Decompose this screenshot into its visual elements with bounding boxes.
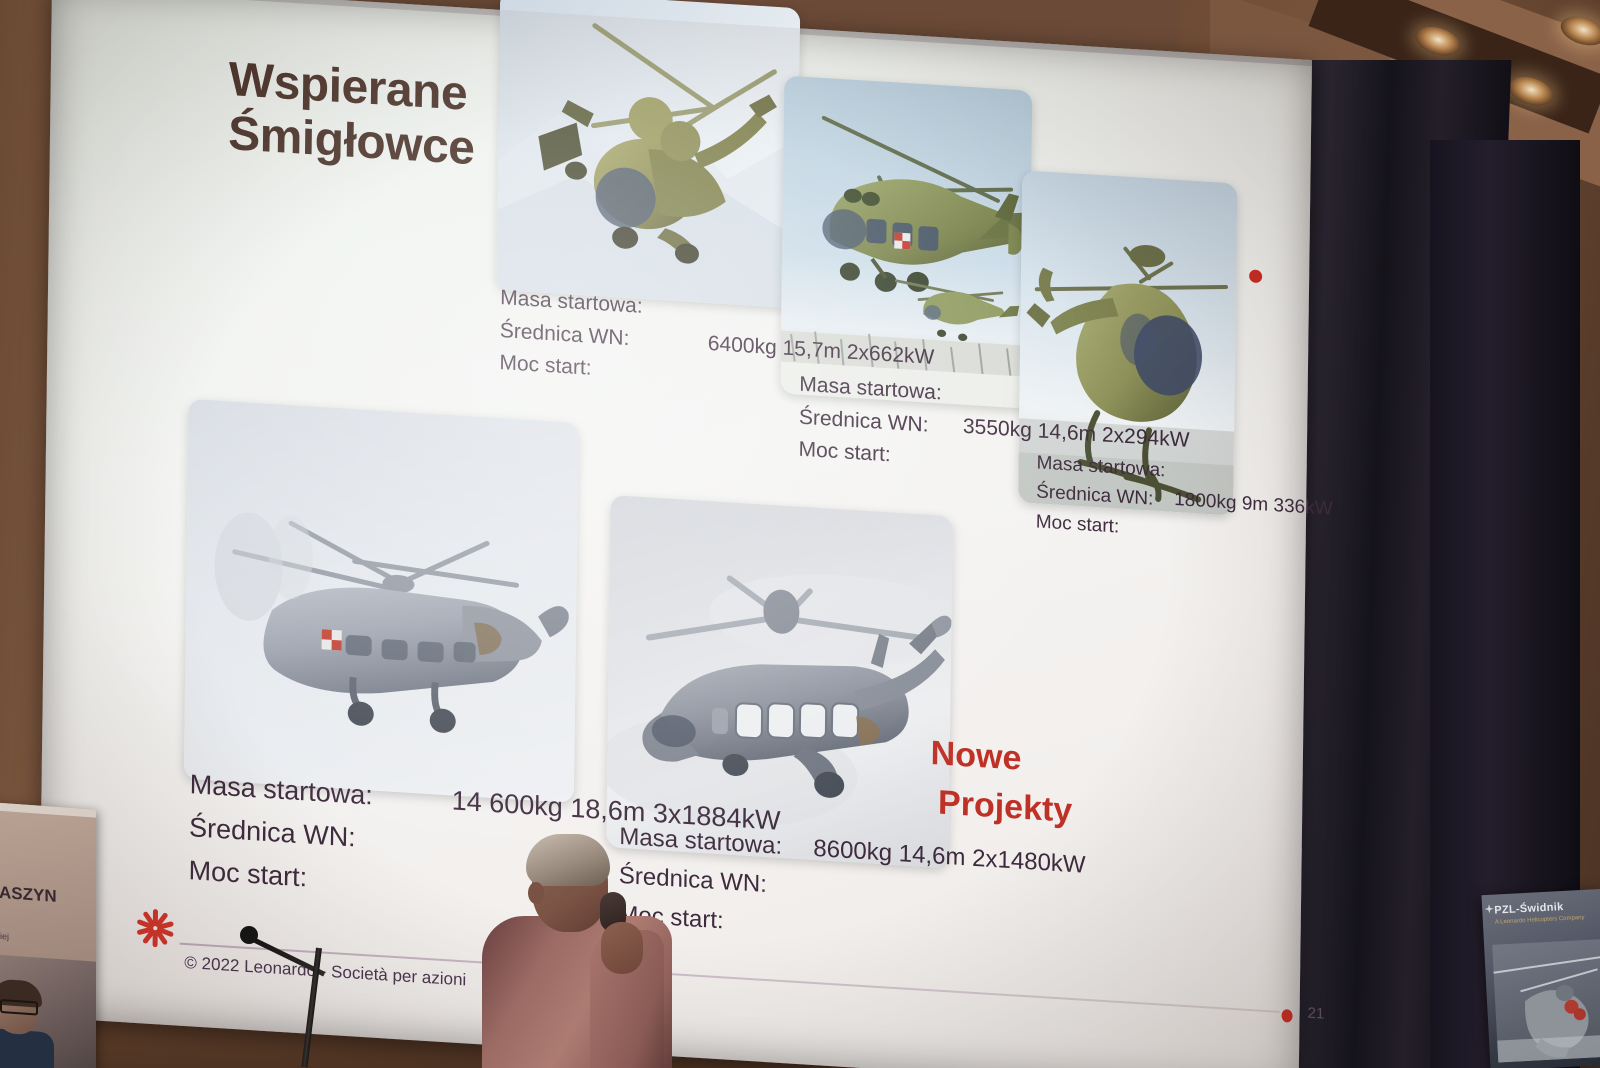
rollup-banner-left: …ASZYN A …skiej [0,802,96,1068]
spec-labels-mi2: Masa startowa: Średnica WN: Moc start: [798,369,942,475]
spec-value-mass: 1800kg [1174,489,1237,514]
banner-right-logo-text: PZL-Świdnik [1494,901,1564,917]
spec-value-mass: 6400kg [708,332,777,359]
spec-labels-sw4: Masa startowa: Średnica WN: Moc start: [1036,448,1166,544]
callout-line2: Projekty [938,779,1073,837]
slide-accent-dot [1249,269,1262,283]
spec-value-mass: 14 600kg [451,785,562,822]
spec-value-rotor: 9m [1242,493,1269,516]
slide-title: Wspierane Śmigłowce [228,53,529,179]
spec-value-power: 2x1480kW [972,845,1086,879]
callout-nowe-projekty: Nowe Projekty [930,729,1073,836]
callout-line1: Nowe [930,729,1073,787]
banner-right-subtitle: A Leonardo Helicopters Company [1495,915,1585,926]
leonardo-pinwheel-logo [131,904,178,953]
page-marker-dot [1281,1009,1292,1023]
presenter-ear [528,882,544,904]
presenter-hair [526,834,610,886]
spec-value-rotor: 15,7m [782,337,841,364]
banner-person-body [0,1028,54,1068]
spec-value-rotor: 14,6m [1038,419,1097,446]
pzl-star-icon [1484,904,1495,915]
microphone-stand-head [240,926,258,944]
helicopter-photo-w3-sokol [496,0,800,308]
page-number: 21 [1308,1005,1325,1023]
presenter [470,830,690,1068]
presenter-hand [601,922,643,974]
spec-labels-aw101: Masa startowa: Średnica WN: Moc start: [188,763,373,904]
conference-room-scene: Wspierane Śmigłowce [0,0,1600,1068]
banner-left-photo [0,954,96,1068]
spec-value-rotor: 14,6m [899,840,966,871]
spec-value-power: 2x294kW [1102,423,1190,451]
spec-value-power: 336kW [1273,495,1332,520]
spec-value-mass: 8600kg [813,835,892,867]
rollup-banner-right: PZL-Świdnik A Leonardo Helicopters Compa… [1481,889,1600,1068]
banner-left-line1: …ASZYN [0,882,57,907]
banner-right-helicopter-photo [1492,939,1600,1062]
spec-value-mass: 3550kg [963,415,1032,442]
helicopter-photo-aw101 [184,399,579,803]
spec-value-power: 2x662kW [847,341,935,369]
spec-labels-w3-sokol: Masa startowa: Średnica WN: Moc start: [499,282,643,388]
glasses-icon [0,999,38,1016]
banner-left-line3: …skiej [0,930,9,942]
spec-values-aw149: 8600kg 14,6m 2x1480kW [813,830,1086,886]
